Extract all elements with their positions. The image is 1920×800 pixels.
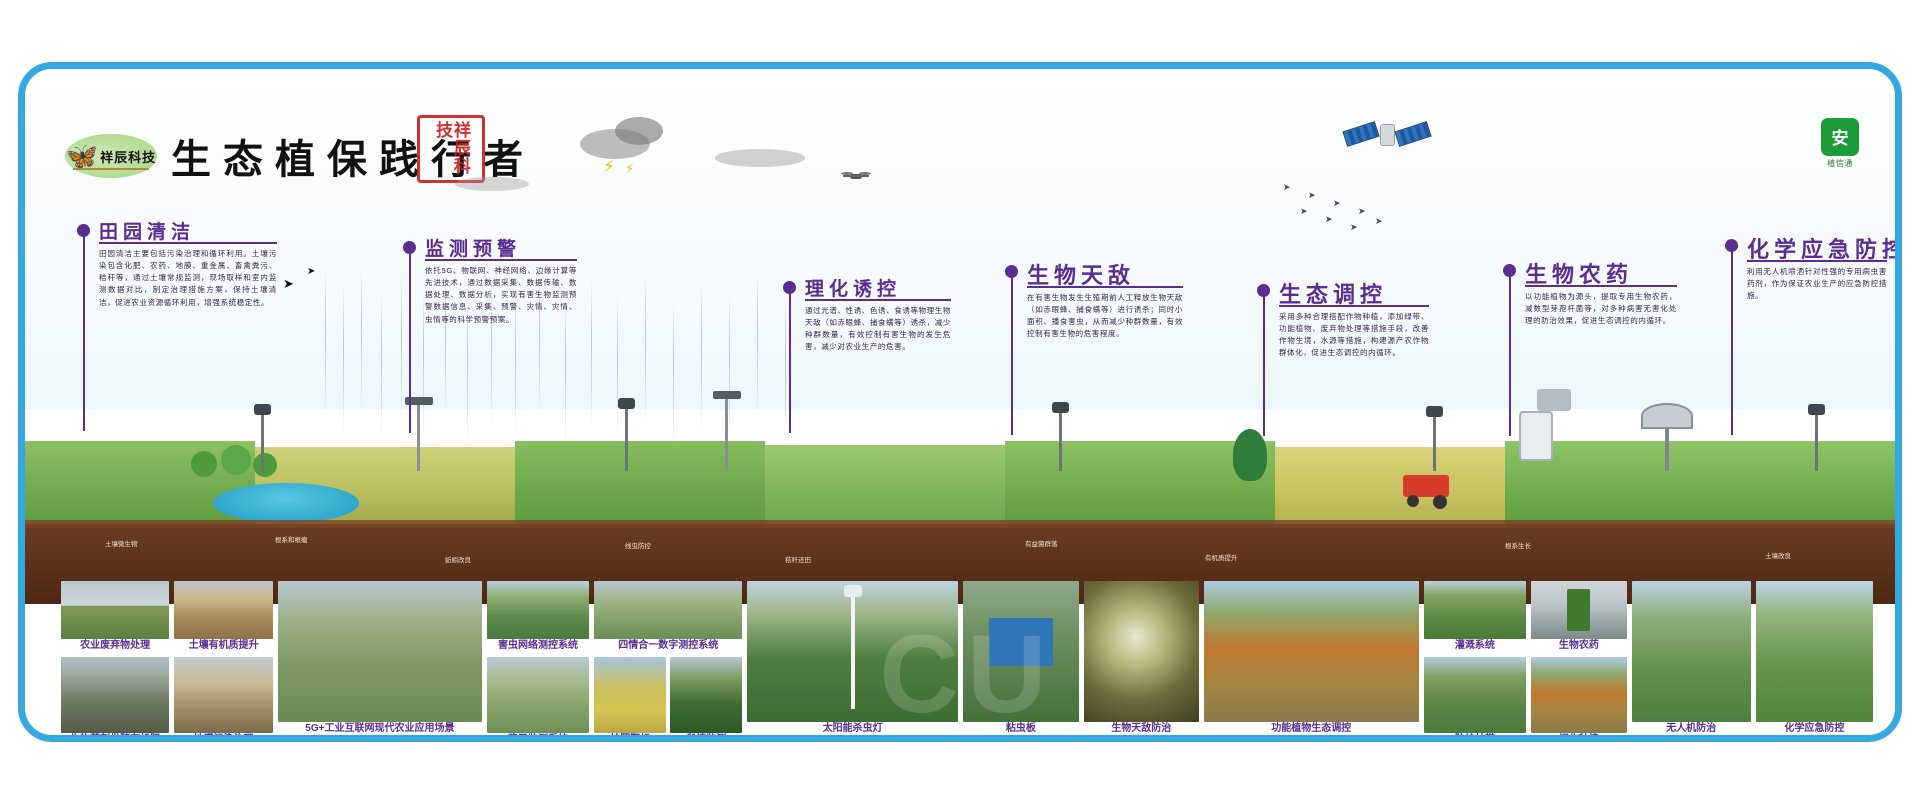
- callout-body: 在有害生物发生生殖期前人工释放生物天敌（如赤眼蜂、捕食螨等）进行诱杀；同时小面积…: [1027, 292, 1183, 341]
- photo-cell[interactable]: 功能植物生态调控: [1204, 581, 1418, 736]
- soil-label: 秸秆还田: [785, 554, 811, 564]
- photo-column: 无人机防治: [1632, 581, 1751, 736]
- callout-title: 田园清洁: [99, 217, 195, 244]
- photo-strip: 农业废弃物处理 生物菌剂发酵有机肥 土壤有机质提升 地膜污染治理: [61, 581, 1873, 742]
- harvester-icon: [1403, 475, 1449, 497]
- compost-pile-photo[interactable]: [61, 657, 169, 733]
- photo-cell[interactable]: 农业废弃物处理: [61, 581, 169, 653]
- photo-caption: 功能植物生态调控: [1204, 722, 1418, 736]
- tree-icon: [191, 451, 217, 477]
- scarecrow-icon: [1537, 389, 1571, 411]
- cloud-icon: [715, 149, 805, 167]
- photo-caption: 粘虫板: [963, 722, 1078, 736]
- rodent-monitor-photo[interactable]: [670, 657, 742, 733]
- photo-cell[interactable]: 间作种植: [1531, 657, 1626, 743]
- callout-title: 监测预警: [425, 234, 521, 261]
- corner-badge-label: 植信通: [1827, 158, 1853, 169]
- photo-cell[interactable]: 拍照靶标: [594, 657, 666, 743]
- photo-caption: 鼠情监测: [670, 733, 742, 743]
- uav-spraying-photo[interactable]: [1632, 581, 1751, 722]
- photo-cell[interactable]: 地膜污染治理: [174, 657, 273, 743]
- soil-label: 线虫防控: [625, 540, 651, 550]
- field-robot-icon: [1519, 411, 1553, 461]
- photo-cell[interactable]: 灌溉系统: [1424, 581, 1527, 653]
- pest-network-device-photo[interactable]: [487, 581, 590, 639]
- soil-label: 蚯蚓改良: [445, 554, 471, 564]
- photo-cell[interactable]: 土壤有机质提升: [174, 581, 273, 653]
- callout-body: 以功能植物为源头，提取专用生物农药，减数型芽孢杆菌等，对多种病害无害化处理的防治…: [1525, 291, 1677, 327]
- photo-caption: 生物农药: [1531, 639, 1626, 653]
- shield-icon: 安: [1821, 118, 1859, 156]
- insect-lamp-icon: [1815, 413, 1818, 471]
- soil-label: 根系生长: [1505, 540, 1531, 550]
- photo-caption: 害虫网络测控系统: [487, 639, 590, 653]
- radar-dish-icon: [1641, 403, 1693, 429]
- photo-cell[interactable]: 生物菌剂发酵有机肥: [61, 657, 169, 743]
- callout-body: 田园清洁主要包括污染治理和循环利用。土壤污染包含化肥、农药、地膜、重金属、畜禽粪…: [99, 248, 277, 309]
- callout-body: 采用多种合理搭配作物种植，添加绿带、功能植物、废弃物处理等措施手段，改善作物生境…: [1279, 311, 1429, 360]
- callout-title: 理化诱控: [805, 274, 901, 301]
- irrigation-system-photo[interactable]: [1424, 581, 1527, 639]
- soil-label: 土壤微生物: [105, 538, 138, 548]
- spore-monitor-photo[interactable]: [487, 657, 590, 733]
- field-sign-photo[interactable]: [61, 581, 169, 639]
- photo-column: 害虫网络测控系统 孢子监测系统: [487, 581, 590, 742]
- photo-cell[interactable]: 防护林带: [1424, 657, 1527, 743]
- photo-cell[interactable]: 5G+工业互联网现代农业应用场景: [278, 581, 481, 736]
- chemical-emergency-control-photo[interactable]: [1756, 581, 1873, 722]
- swallow-bird-icon: ➤: [307, 269, 318, 274]
- insect-lamp-icon: [261, 413, 264, 471]
- photo-caption: 无人机防治: [1632, 722, 1751, 736]
- photo-caption: 化学应急防控: [1756, 722, 1873, 736]
- photo-column: 太阳能杀虫灯: [747, 581, 958, 736]
- pond-icon: [213, 483, 359, 523]
- photo-cell[interactable]: 太阳能杀虫灯: [747, 581, 958, 736]
- cloud-icon: [615, 117, 663, 145]
- photo-column: 灌溉系统 防护林带: [1424, 581, 1527, 742]
- insect-lamp-icon: [1059, 411, 1062, 471]
- soil-survey-photo[interactable]: [174, 581, 273, 639]
- tree-icon: [1233, 429, 1267, 481]
- sky-background: [25, 69, 1895, 409]
- infographic-root: 🦋 祥辰科技 生态植保践行者 祥辰科技 安 植信通 ⚡ ⚡: [0, 0, 1920, 800]
- lightning-icon: ⚡: [603, 157, 615, 177]
- weather-station-icon: [713, 391, 741, 399]
- photo-column: 粘虫板: [963, 581, 1078, 736]
- photo-cell[interactable]: 化学应急防控: [1756, 581, 1873, 736]
- harvester-icon: [1407, 495, 1419, 507]
- photo-column: 生物农药 间作种植: [1531, 581, 1626, 742]
- photo-column: 四情合一数字测控系统 拍照靶标 鼠情监测: [594, 581, 742, 742]
- photo-cell[interactable]: 粘虫板: [963, 581, 1078, 736]
- corner-badge: 安 植信通: [1813, 113, 1867, 173]
- photo-column: 5G+工业互联网现代农业应用场景: [278, 581, 481, 736]
- photo-caption: 四情合一数字测控系统: [594, 639, 742, 653]
- cloud-icon: [455, 177, 529, 191]
- photo-column: 农业废弃物处理 生物菌剂发酵有机肥: [61, 581, 169, 742]
- photo-caption: 灌溉系统: [1424, 639, 1527, 653]
- photo-caption: 土壤有机质提升: [174, 639, 273, 653]
- photo-caption: 防护林带: [1424, 733, 1527, 743]
- sticky-trap-board-photo[interactable]: [963, 581, 1078, 722]
- monitoring-station-photo[interactable]: [278, 581, 481, 722]
- solar-insect-lamp-photo[interactable]: [747, 581, 958, 722]
- photo-cell[interactable]: 生物天敌防治: [1084, 581, 1199, 736]
- tree-icon: [221, 445, 251, 475]
- photo-cell[interactable]: 四情合一数字测控系统: [594, 581, 742, 653]
- tree-icon: [253, 453, 277, 477]
- soil-label: 有机质提升: [1205, 552, 1238, 562]
- photo-caption: 太阳能杀虫灯: [747, 722, 958, 736]
- photo-column: 土壤有机质提升 地膜污染治理: [174, 581, 273, 742]
- functional-plant-field-photo[interactable]: [1204, 581, 1418, 722]
- lightning-icon: ⚡: [625, 161, 634, 177]
- field-band: [25, 441, 1895, 531]
- drone-icon: [850, 174, 862, 179]
- natural-enemy-flower-photo[interactable]: [1084, 581, 1199, 722]
- photo-cell[interactable]: 害虫网络测控系统: [487, 581, 590, 653]
- brand-name: 祥辰科技: [100, 147, 156, 166]
- mulch-film-cleanup-photo[interactable]: [174, 657, 273, 733]
- photo-caption: 间作种植: [1531, 733, 1626, 743]
- shelterbelt-photo[interactable]: [1424, 657, 1527, 733]
- poster-frame: 🦋 祥辰科技 生态植保践行者 祥辰科技 安 植信通 ⚡ ⚡: [18, 62, 1902, 742]
- camera-target-photo[interactable]: [594, 657, 666, 733]
- soil-label: 有益菌群落: [1025, 538, 1058, 548]
- photo-caption: 5G+工业互联网现代农业应用场景: [278, 722, 481, 736]
- biopesticide-product-photo[interactable]: [1531, 581, 1626, 639]
- insect-lamp-icon: [1433, 415, 1436, 471]
- photo-caption: 生物菌剂发酵有机肥: [61, 733, 169, 743]
- callout-body: 依托5G、物联网、神经网络、边缘计算等先进技术，通过数据采集、数据传输、数据处理…: [425, 265, 577, 326]
- four-in-one-station-photo[interactable]: [594, 581, 742, 639]
- photo-cell[interactable]: 鼠情监测: [670, 657, 742, 743]
- photo-column: 生物天敌防治: [1084, 581, 1199, 736]
- butterfly-leaf-logo-icon: 🦋 祥辰科技: [65, 134, 157, 178]
- photo-cell[interactable]: 生物农药: [1531, 581, 1626, 653]
- swallow-bird-icon: ➤: [283, 281, 294, 286]
- photo-caption: 农业废弃物处理: [61, 639, 169, 653]
- callout-body: 利用无人机喷洒针对性强的专用病虫害药剂，作为保证农业生产的应急防控措施。: [1747, 266, 1887, 302]
- satellite-icon: [1380, 124, 1395, 146]
- photo-caption: 拍照靶标: [594, 733, 666, 743]
- red-seal-stamp: 祥辰科技: [417, 115, 485, 183]
- photo-caption: 孢子监测系统: [487, 733, 590, 743]
- radar-dish-icon: [1665, 429, 1669, 471]
- photo-column: 功能植物生态调控: [1204, 581, 1418, 736]
- photo-caption: 地膜污染治理: [174, 733, 273, 743]
- photo-caption: 生物天敌防治: [1084, 722, 1199, 736]
- soil-label: 土壤改良: [1765, 550, 1791, 560]
- callout-body: 通过光谱、性诱、色诱、食诱等物理生物天敌（如赤眼蜂、捕食螨等）诱杀，减少种群数量…: [805, 305, 951, 354]
- photo-column: 化学应急防控: [1756, 581, 1873, 736]
- butterfly-icon: 🦋: [66, 143, 98, 169]
- insect-lamp-icon: [625, 407, 628, 471]
- weather-station-icon: [417, 401, 420, 471]
- intercropping-photo[interactable]: [1531, 657, 1626, 733]
- photo-cell[interactable]: 孢子监测系统: [487, 657, 590, 743]
- weather-station-icon: [725, 395, 728, 471]
- photo-cell[interactable]: 无人机防治: [1632, 581, 1751, 736]
- soil-label: 根系和根瘤: [275, 534, 308, 544]
- harvester-icon: [1433, 495, 1447, 509]
